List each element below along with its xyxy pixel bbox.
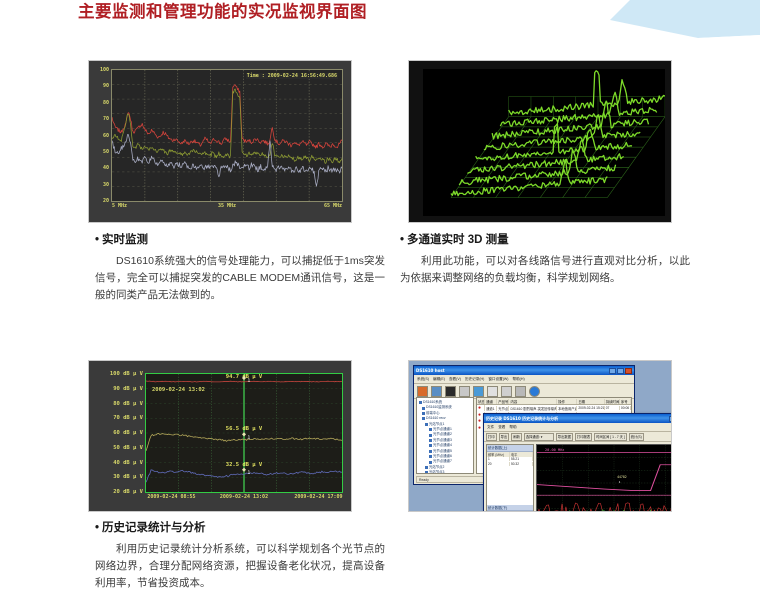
mini-table-column-header: 电平 [510,452,533,457]
close-icon[interactable] [625,368,632,374]
tree-node-icon [425,423,428,426]
tree-node-icon [429,439,432,442]
tree-node-icon [429,455,432,458]
spectrum-y-tick: 90 [103,83,109,89]
spectrum-y-tick: 100 [100,67,109,73]
table-column-header[interactable]: 序号 [620,399,631,404]
channel-select[interactable]: 选择通道: ▾ [524,433,554,441]
tree-node-icon [422,417,425,420]
table-cell: 本地值用户通道 [557,406,577,411]
mini-table-column-header: 频率 (MHz) [487,511,510,512]
history-y-tick: 40 dB μ V [113,460,143,466]
tree-node-icon [429,450,432,453]
mini-table-cell: 1 [487,457,510,461]
window-controls[interactable] [609,368,632,374]
table-cell: 07 [605,406,620,410]
action-button[interactable]: 统计(S) [629,433,644,441]
menu-item[interactable]: 文件 [487,425,494,430]
table-cell: 2009-02-24 15:21:32 [577,406,604,410]
menu-item[interactable]: 帮助 [509,425,516,430]
history-analysis-window[interactable]: 历史记录 DS1610 历史记录统计与分析 文件查看帮助 打印导出刷新选择通道:… [483,413,672,512]
display-icon[interactable] [445,386,456,397]
events-table-header: 状态通道产品号内容操作日期持续时间(s)序号 [477,398,631,405]
spectrum-y-tick: 70 [103,116,109,122]
help-icon[interactable] [529,386,540,397]
table-column-header[interactable]: 操作 [557,399,577,404]
tree-node-icon [422,407,425,410]
minimize-icon[interactable] [609,368,616,374]
spectrum-y-tick: 40 [103,165,109,171]
child-window-titlebar[interactable]: 历史记录 DS1610 历史记录统计与分析 [484,414,672,423]
main-menubar[interactable]: 系统(S)编辑(E)查看(V)历史记录(H)窗口设置(W)帮助(H) [414,375,634,384]
spectrum-traces [112,70,342,201]
history-trend-screenshot: 100 dB μ V90 dB μ V80 dB μ V70 dB μ V60 … [88,360,352,512]
history-x-tick: 2009-02-24 17:09 [294,494,342,500]
tree-node-icon [419,401,422,404]
spectrum-x-tick: 65 MHz [324,203,342,209]
mini-table-column-header: 频率 (MHz) [487,452,510,457]
mini-table-cell: 20 [487,462,510,466]
main-window-title: DS1610 host [416,368,609,373]
tree-node-icon [429,444,432,447]
table-column-header[interactable]: 内容 [509,399,557,404]
history-y-tick: 100 dB μ V [110,371,143,377]
table-column-header[interactable]: 日期 [577,399,604,404]
child-chart-traces [537,445,672,512]
menu-item[interactable]: 窗口设置(W) [488,377,508,382]
child-window-controls[interactable] [669,416,672,422]
tree-node-icon [425,466,428,469]
monitor-icon[interactable] [417,386,428,397]
caption-history-statistics: •历史记录统计与分析 利用历史记录统计分析系统，可以科学规划各个光节点的网络边界… [95,521,385,592]
spectrum-timestamp: Time : 2009-02-24 16:56:49.686 [246,73,338,79]
table-icon[interactable] [459,386,470,397]
mini-table-header-upper: 频率 (MHz)电平 [487,452,533,457]
history-marker-label: 56.5 dB μ V [226,426,262,432]
caption-body: DS1610系统强大的信号处理能力，可以捕捉低于1ms突发信号，完全可以捕捉突发… [95,253,385,304]
table-cell: 光节点 [497,406,509,411]
history-y-tick: 30 dB μ V [113,474,143,480]
mini-table-cell: 55.21 [510,457,533,461]
toolbar-button[interactable]: 导出 [499,433,510,441]
waterfall-3d-screenshot [408,60,672,223]
print-icon[interactable] [515,386,526,397]
spectrum-plot-area: 1009080706050403020 5 MHz35 MHz65 MHz Ti… [111,69,343,202]
menu-item[interactable]: 历史记录(H) [465,377,484,382]
tree-node-icon [425,471,428,474]
menu-item[interactable]: 编辑(E) [433,377,445,382]
tree-node-icon [429,461,432,464]
table-column-header[interactable]: 通道 [485,399,497,404]
caption-realtime-monitoring: •实时监测 DS1610系统强大的信号处理能力，可以捕捉低于1ms突发信号，完全… [95,233,385,304]
toolbar-button[interactable]: 打印 [486,433,497,441]
spectrum-x-tick: 5 MHz [112,203,127,209]
caption-heading-text: 历史记录统计与分析 [102,522,206,534]
spectrum-screenshot: 1009080706050403020 5 MHz35 MHz65 MHz Ti… [88,60,352,223]
search-icon[interactable] [473,386,484,397]
mini-table-header-lower: 频率 (MHz)电平 [487,511,533,512]
caption-heading-text: 实时监测 [102,234,148,246]
tree-item-label: 光站节点3 [429,470,444,474]
spectrum-x-tick: 35 MHz [218,203,236,209]
child-chart-area: 20.00 MHz 44782 1 [536,444,672,512]
child-menubar[interactable]: 文件查看帮助 [484,423,672,432]
history-y-tick: 70 dB μ V [113,415,143,421]
table-cell: DS1610 剧烈噪声-突发回传噪声 [509,406,557,411]
tree-node-icon [429,428,432,431]
mini-table-cell: 50.32 [510,462,533,466]
history-y-tick: 60 dB μ V [113,430,143,436]
table-column-header[interactable]: 状态 [477,399,485,404]
table-column-header[interactable]: 持续时间(s) [605,399,620,404]
device-tree[interactable]: DS1610系统DS1610监测系统前端中心DS1610 recv光站节点1光节… [416,397,474,474]
child-chart-marker: 44782 [617,475,627,479]
child-toolbar[interactable]: 打印导出刷新选择通道: ▾导出数据打印报表时间区间 [ 1 - 7 天 ]统计(… [484,432,672,442]
caption-body: 利用此功能，可以对各线路信号进行直观对比分析，以此为依据来调整网络的负载均衡，科… [400,253,690,287]
maximize-icon[interactable] [617,368,624,374]
menu-item[interactable]: 查看(V) [449,377,461,382]
tree-node-icon [429,434,432,437]
corner-decoration [610,0,760,60]
history-plot-area: 100 dB μ V90 dB μ V80 dB μ V70 dB μ V60 … [145,373,343,493]
history-marker-label: 32.5 dB μ V [226,462,262,468]
history-y-tick: 50 dB μ V [113,445,143,451]
action-button[interactable]: 时间区间 [ 1 - 7 天 ] [594,433,627,441]
bullet-icon: • [95,233,99,248]
waterfall-3d-plot-area [423,69,665,216]
tree-item[interactable]: 光站节点3 [419,470,471,474]
mini-table-row[interactable]: 155.21 [487,457,533,462]
caption-heading: •实时监测 [95,233,385,248]
caption-multichannel-3d: •多通道实时 3D 测量 利用此功能，可以对各线路信号进行直观对比分析，以此为依… [400,233,690,287]
spectrum-y-tick: 20 [103,198,109,204]
history-x-tick: 2009-02-24 13:02 [220,494,268,500]
alarm-status-icon: ● [477,405,485,411]
spectrum-y-tick: 30 [103,182,109,188]
table-cell: 通道1 [485,406,497,411]
minimize-icon[interactable] [669,416,672,422]
page-title: 主要监测和管理功能的实况监视界面图 [78,0,367,24]
caption-heading-text: 多通道实时 3D 测量 [407,234,509,246]
history-inline-timestamp: 2009-02-24 13:02 [152,387,205,393]
list-icon[interactable] [487,386,498,397]
copy-icon[interactable] [501,386,512,397]
history-marker-index: 1 [248,471,251,476]
software-screenshot: DS1610 host 系统(S)编辑(E)查看(V)历史记录(H)窗口设置(W… [408,360,672,512]
history-x-tick: 2009-02-24 08:55 [147,494,195,500]
action-button[interactable]: 导出数据 [556,433,573,441]
mini-table-row[interactable]: 2050.32 [487,462,533,467]
history-marker-index: 1 [248,436,251,441]
alarm-icon[interactable] [431,386,442,397]
menu-item[interactable]: 查看 [498,425,505,430]
caption-heading: •历史记录统计与分析 [95,521,385,536]
menu-item[interactable]: 系统(S) [417,377,429,382]
spectrum-y-tick: 80 [103,100,109,106]
bullet-icon: • [95,521,99,536]
history-y-tick: 80 dB μ V [113,401,143,407]
history-y-tick: 20 dB μ V [113,489,143,495]
caption-body: 利用历史记录统计分析系统，可以科学规划各个光节点的网络边界，合理分配网络资源，把… [95,541,385,592]
action-button[interactable]: 打印报表 [575,433,592,441]
mini-table-body-upper[interactable]: 155.212050.32 [487,457,533,467]
table-cell: 00:06 [620,406,631,410]
waterfall-3d-traces [423,69,665,216]
spectrum-y-tick: 60 [103,133,109,139]
caption-heading: •多通道实时 3D 测量 [400,233,690,248]
child-chart-marker-sub: 1 [619,480,621,484]
child-chart-note: 20.00 MHz [545,448,564,452]
mini-table-column-header: 电平 [510,511,533,512]
tree-node-icon [422,412,425,415]
main-window-titlebar[interactable]: DS1610 host [414,366,634,375]
table-column-header[interactable]: 产品号 [497,399,509,404]
child-window-title: 历史记录 DS1610 历史记录统计与分析 [486,416,669,422]
history-y-tick: 90 dB μ V [113,386,143,392]
child-side-panel[interactable]: 统计数据(上) 频率 (MHz)电平 155.212050.32 统计数据(下)… [486,444,534,512]
history-marker-index: 1 [248,379,251,384]
menu-item[interactable]: 帮助(H) [513,377,525,382]
toolbar-button[interactable]: 刷新 [511,433,522,441]
bullet-icon: • [400,233,404,248]
spectrum-y-tick: 50 [103,149,109,155]
